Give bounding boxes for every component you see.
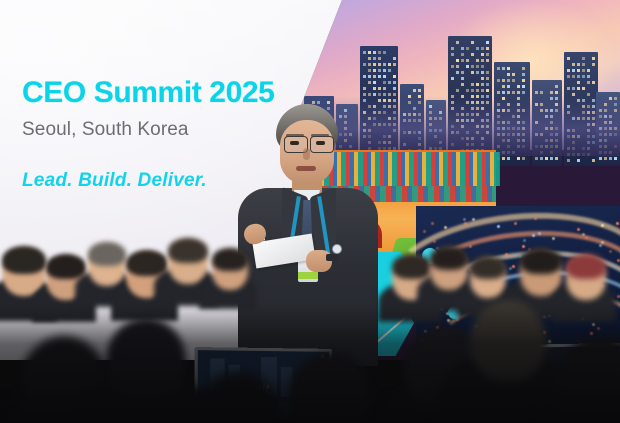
wristwatch [326, 254, 339, 261]
speaker-eye-left [290, 141, 299, 145]
speaker-mouth [296, 166, 316, 171]
speaker-nose [303, 148, 310, 160]
foreground-shadow [0, 303, 620, 423]
conference-keynote-photo: CEO Summit 2025 Seoul, South Korea Lead.… [0, 0, 620, 423]
speaker-eye-right [316, 141, 325, 145]
lapel-pin-icon [332, 244, 342, 254]
slide-tagline: Lead. Build. Deliver. [22, 170, 207, 192]
badge-color-band [298, 272, 318, 279]
